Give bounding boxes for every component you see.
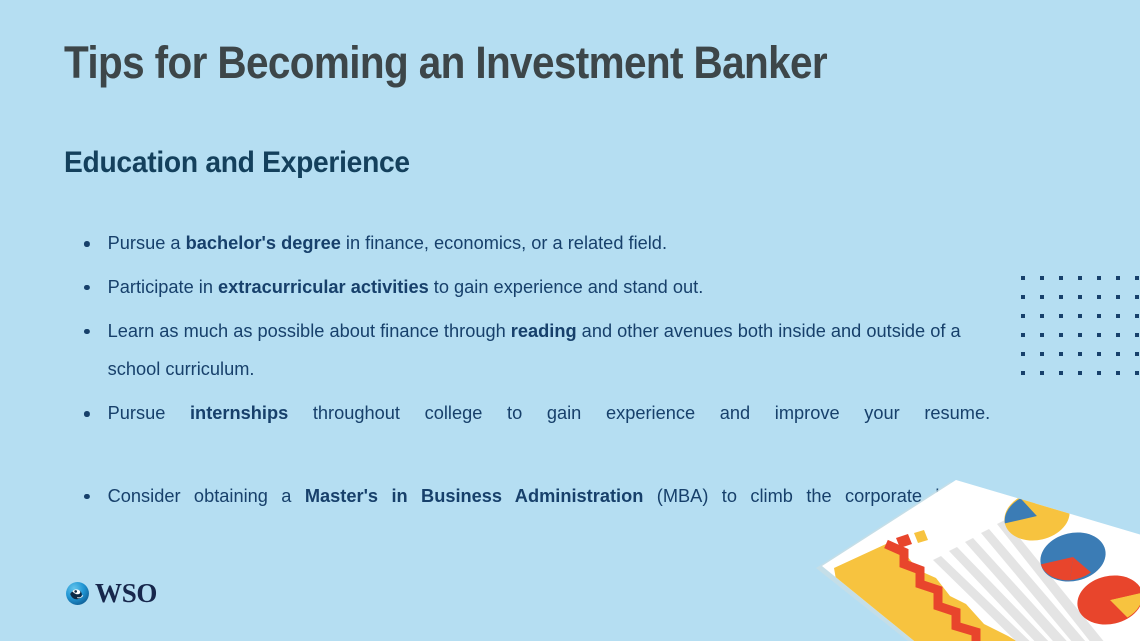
grid-dot — [1040, 371, 1044, 375]
grid-dot — [1059, 276, 1063, 280]
grid-dot — [1059, 352, 1063, 356]
grid-dot — [1097, 295, 1101, 299]
wso-logo[interactable]: WSO — [65, 580, 157, 607]
bullet-text-run: to gain experience and stand out. — [429, 276, 704, 297]
report-document-illustration — [800, 440, 1140, 641]
grid-dot — [1135, 371, 1139, 375]
grid-dot — [1078, 371, 1082, 375]
grid-dot — [1059, 295, 1063, 299]
bullet-text: Participate in extracurricular activitie… — [108, 276, 704, 297]
grid-dot — [1021, 352, 1025, 356]
page-title: Tips for Becoming an Investment Banker — [64, 37, 827, 89]
grid-dot — [1116, 333, 1120, 337]
bullet-text-run: Pursue a — [108, 232, 186, 253]
grid-dot — [1116, 352, 1120, 356]
grid-dot — [1097, 333, 1101, 337]
grid-dot — [1116, 295, 1120, 299]
bullet-text-run: Pursue — [108, 402, 190, 423]
grid-dot — [1135, 352, 1139, 356]
grid-dot — [1059, 333, 1063, 337]
bullet-emphasis: Master's in Business Administration — [305, 485, 644, 506]
grid-dot — [1040, 314, 1044, 318]
grid-dot — [1135, 295, 1139, 299]
grid-dot — [1021, 295, 1025, 299]
bullet-emphasis: reading — [511, 320, 577, 341]
bullet-text-run: Consider obtaining a — [108, 485, 305, 506]
grid-dot — [1040, 295, 1044, 299]
bullet-learn-about-finance: Learn as much as possible about finance … — [82, 312, 990, 390]
grid-dot — [1021, 371, 1025, 375]
grid-dot — [1097, 276, 1101, 280]
grid-dot — [1040, 333, 1044, 337]
grid-dot — [1021, 333, 1025, 337]
grid-dot — [1021, 314, 1025, 318]
wso-wordmark: WSO — [95, 580, 157, 607]
bullet-extracurricular-activities: Participate in extracurricular activitie… — [82, 268, 990, 307]
grid-dot — [1116, 371, 1120, 375]
wso-globe-icon — [65, 581, 90, 606]
bullet-text-run: Participate in — [108, 276, 218, 297]
grid-dot — [1097, 371, 1101, 375]
bullet-text-run: in finance, economics, or a related fiel… — [341, 232, 667, 253]
grid-dot — [1135, 333, 1139, 337]
grid-dot — [1078, 352, 1082, 356]
grid-dot — [1097, 314, 1101, 318]
slide-canvas: Tips for Becoming an Investment Banker E… — [0, 0, 1140, 641]
dot-grid-icon — [1021, 276, 1140, 374]
section-heading: Education and Experience — [64, 146, 410, 180]
grid-dot — [1135, 276, 1139, 280]
bullet-text: Learn as much as possible about finance … — [108, 320, 961, 380]
grid-dot — [1116, 314, 1120, 318]
grid-dot — [1078, 333, 1082, 337]
grid-dot — [1059, 371, 1063, 375]
grid-dot — [1078, 295, 1082, 299]
grid-dot — [1078, 276, 1082, 280]
bullet-emphasis: extracurricular activities — [218, 276, 429, 297]
bullet-emphasis: internships — [190, 402, 288, 423]
bullet-emphasis: bachelor's degree — [186, 232, 341, 253]
grid-dot — [1097, 352, 1101, 356]
grid-dot — [1135, 314, 1139, 318]
bullet-text-run: throughout college to gain experience an… — [288, 402, 990, 423]
bullet-text: Pursue a bachelor's degree in finance, e… — [108, 232, 667, 253]
grid-dot — [1040, 276, 1044, 280]
grid-dot — [1116, 276, 1120, 280]
grid-dot — [1059, 314, 1063, 318]
grid-dot — [1021, 276, 1025, 280]
bullet-text-run: Learn as much as possible about finance … — [108, 320, 511, 341]
bullet-bachelors-degree: Pursue a bachelor's degree in finance, e… — [82, 224, 990, 263]
grid-dot — [1078, 314, 1082, 318]
grid-dot — [1040, 352, 1044, 356]
